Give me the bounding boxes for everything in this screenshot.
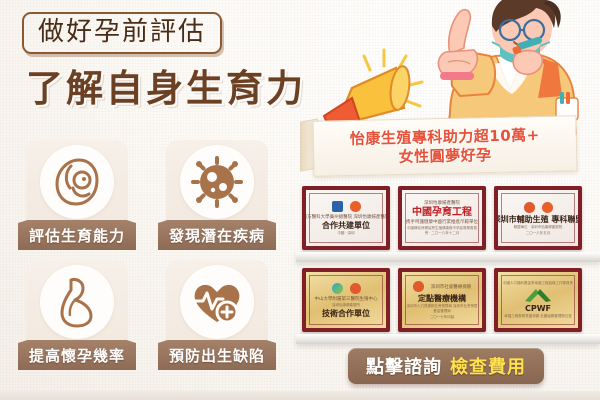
icon-panel — [26, 140, 128, 226]
ribbon-line-2: 女性圓夢好孕 — [399, 146, 492, 166]
certificate-title: 合作共建單位 — [322, 221, 370, 230]
certificate-item[interactable]: 深圳市輔助生殖 專科聯盟 聯盟單位 · 深圳市怡康婦產醫院 二〇一八年五月 — [494, 186, 582, 250]
kicker-text: 做好孕前評估 — [38, 17, 206, 47]
certificate-row-2: 中山大學附屬第三醫院生殖中心 深圳怡康婦產醫院 技術合作單位 深圳市社會醫療保險… — [296, 268, 600, 338]
certificate-item[interactable]: 中國人口福利基金會幸福工程組織工作委員會 CPWF 幸福工程救助貧困母親 全國組… — [494, 268, 582, 332]
feature-label-0: 評估生育能力 — [29, 225, 125, 246]
certificate-tiny: 二〇一七年印製 — [430, 315, 455, 320]
consult-cta-button[interactable]: 點擊諮詢 檢查費用 — [348, 348, 544, 384]
feature-label-plate-2: 提高懷孕幾率 — [18, 340, 136, 370]
certificate-title: 中國孕育工程 — [412, 207, 472, 218]
partner-logo-icon — [350, 283, 361, 294]
feature-card-2[interactable]: 提高懷孕幾率 — [18, 260, 136, 368]
icon-panel — [166, 260, 268, 346]
virus-icon — [180, 145, 254, 219]
certificate-header: 深圳市社會醫療保險 — [431, 284, 472, 290]
certificate-title: 技術合作單位 — [322, 309, 370, 318]
certificate-item[interactable]: 深圳怡康婦產醫院 中國孕育工程 携手呵護健康中國行業推進示範單位 中國婦幼保健協… — [398, 186, 486, 250]
certificate-sub: 南方醫科大學廣州總醫院 深圳怡康婦產醫院 — [303, 214, 390, 220]
certificate-shelves: 南方醫科大學廣州總醫院 深圳怡康婦產醫院 合作共建單位 中國 · 深圳 深圳怡康… — [296, 182, 600, 340]
certificate-tiny: 幸福工程救助貧困母親 全國組織管理辦公室 — [504, 314, 571, 319]
feature-card-0[interactable]: 評估生育能力 — [18, 140, 136, 248]
feature-label-3: 預防出生缺陷 — [169, 345, 265, 366]
certificate-title: CPWF — [525, 304, 551, 313]
shelf-board-1 — [296, 252, 600, 262]
certificate-title: 深圳市輔助生殖 專科聯盟 — [494, 215, 582, 224]
shelf-board-2 — [296, 334, 600, 344]
certificate-title: 定點醫療機構 — [418, 294, 466, 303]
hospital-logo-icon — [542, 202, 553, 213]
kicker-badge: 做好孕前評估 — [22, 12, 222, 54]
certificate-item[interactable]: 深圳市社會醫療保險 定點醫療機構 深圳市人力資源和社會保障局 深圳市社會保險基金… — [398, 268, 486, 332]
certificate-item[interactable]: 南方醫科大學廣州總醫院 深圳怡康婦產醫院 合作共建單位 中國 · 深圳 — [302, 186, 390, 250]
certificate-header: 中山大學附屬第三醫院生殖中心 — [315, 296, 378, 302]
promo-ribbon: 怡康生殖專科助力超10萬+ 女性圓夢好孕 — [312, 115, 577, 177]
bottom-edge — [0, 391, 600, 400]
certificate-row-1: 南方醫科大學廣州總醫院 深圳怡康婦產醫院 合作共建單位 中國 · 深圳 深圳怡康… — [296, 186, 600, 256]
feature-label-plate-1: 發現潛在疾病 — [158, 220, 276, 250]
mother-baby-icon — [40, 145, 114, 219]
certificate-sub: 聯盟單位 · 深圳市怡康婦產醫院 — [514, 225, 563, 230]
feature-label-plate-3: 預防出生缺陷 — [158, 340, 276, 370]
cta-label-highlight: 檢查費用 — [450, 353, 526, 379]
insurance-logo-icon — [413, 281, 424, 292]
certificate-item[interactable]: 中山大學附屬第三醫院生殖中心 深圳怡康婦產醫院 技術合作單位 — [302, 268, 390, 332]
certificate-tiny: 中國婦幼保健協會生殖健康與不孕症專業委員會 · 二〇一八年十二月 — [406, 226, 478, 236]
cpwf-logo-icon — [521, 287, 555, 303]
heart-plus-icon — [180, 265, 254, 339]
page-title: 了解自身生育力 — [26, 68, 306, 110]
certificate-subheader: 深圳怡康婦產醫院 — [332, 303, 360, 308]
alliance-logo-icon — [524, 202, 535, 213]
feature-label-1: 發現潛在疾病 — [169, 225, 265, 246]
certificate-tiny: 二〇一八年五月 — [526, 231, 551, 236]
feature-card-3[interactable]: 預防出生缺陷 — [158, 260, 276, 368]
certificate-sub: 携手呵護健康中國行業推進示範單位 — [406, 219, 478, 225]
hospital-logo-icon — [350, 201, 361, 212]
university-logo-icon — [332, 201, 343, 212]
feature-label-2: 提高懷孕幾率 — [29, 345, 125, 366]
certificate-tiny: 中國 · 深圳 — [337, 231, 354, 236]
certificate-sub: 中國人口福利基金會幸福工程組織工作委員會 — [503, 281, 573, 286]
certificate-header: 深圳怡康婦產醫院 — [424, 200, 460, 206]
icon-panel — [166, 140, 268, 226]
certificate-sub: 深圳市人力資源和社會保障局 深圳市社會保險基金管理局 — [406, 304, 478, 314]
ribbon-line-1: 怡康生殖專科助力超10萬+ — [350, 126, 540, 148]
promo-poster: 做好孕前評估 了解自身生育力 — [0, 0, 600, 400]
hospital-logo-icon — [332, 283, 343, 294]
icon-panel — [26, 260, 128, 346]
feature-card-grid: 評估生育能力 — [18, 140, 286, 372]
feature-label-plate-0: 評估生育能力 — [18, 220, 136, 250]
cta-label-primary: 點擊諮詢 — [366, 353, 442, 379]
pregnant-woman-icon — [40, 265, 114, 339]
feature-card-1[interactable]: 發現潛在疾病 — [158, 140, 276, 248]
